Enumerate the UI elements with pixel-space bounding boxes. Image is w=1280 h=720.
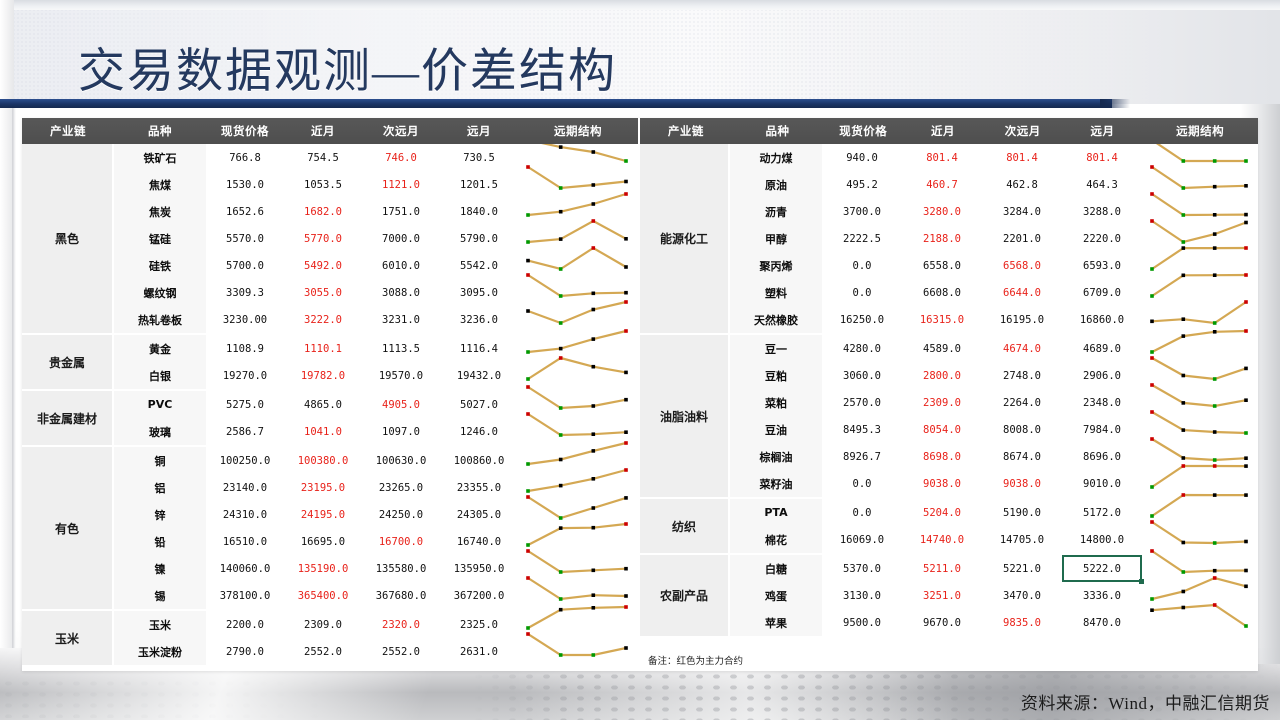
variety-name[interactable]: 天然橡胶 <box>730 306 822 333</box>
header-far-month-2: 远月 <box>1063 118 1143 144</box>
second-far-month-cell[interactable]: 16700.0 <box>362 528 440 555</box>
table-row[interactable]: 甲醇2222.52188.02201.02220.0 <box>730 225 1258 252</box>
variety-name[interactable]: 甲醇 <box>730 225 822 252</box>
slide-canvas: 交易数据观测—价差结构 产业链 品种 现货价格 近月 次远月 远月 远期结构 黑… <box>0 0 1280 720</box>
variety-name[interactable]: 锰硅 <box>114 225 206 252</box>
second-far-month-cell[interactable]: 5190.0 <box>982 499 1062 526</box>
forward-structure-sparkline-cell <box>1142 555 1258 582</box>
table-row[interactable]: 白糖5370.05211.05221.05222.0 <box>730 555 1258 582</box>
near-month-cell[interactable]: 2188.0 <box>902 225 982 252</box>
spot-price-cell[interactable]: 9500.0 <box>822 609 902 636</box>
variety-name[interactable]: 铅 <box>114 528 206 555</box>
far-month-cell[interactable]: 5027.0 <box>440 391 518 418</box>
variety-name[interactable]: 焦煤 <box>114 171 206 198</box>
forward-structure-sparkline-cell <box>518 225 638 252</box>
header-forward-structure-2: 远期结构 <box>1142 118 1258 144</box>
right-price-table: 产业链 品种 现货价格 近月 次远月 远月 远期结构 能源化工动力煤940.08… <box>638 118 1258 671</box>
near-month-cell[interactable]: 5204.0 <box>902 499 982 526</box>
table-row[interactable]: 菜粕2570.02309.02264.02348.0 <box>730 389 1258 416</box>
near-month-cell[interactable]: 4865.0 <box>284 391 362 418</box>
second-far-month-cell[interactable]: 6644.0 <box>982 279 1062 306</box>
near-month-cell[interactable]: 19782.0 <box>284 362 362 389</box>
variety-name[interactable]: 苹果 <box>730 609 822 636</box>
variety-name[interactable]: 白糖 <box>730 555 822 582</box>
second-far-month-cell[interactable]: 100630.0 <box>362 447 440 474</box>
far-month-cell[interactable]: 2220.0 <box>1062 225 1142 252</box>
table-row[interactable]: 豆一4280.04589.04674.04689.0 <box>730 335 1258 362</box>
forward-structure-sparkline-cell <box>518 252 638 279</box>
forward-structure-sparkline-cell <box>1142 225 1258 252</box>
far-month-cell[interactable]: 2906.0 <box>1062 362 1142 389</box>
far-month-cell[interactable]: 2631.0 <box>440 638 518 665</box>
header-variety-2: 品种 <box>732 118 824 144</box>
near-month-cell[interactable]: 8054.0 <box>902 416 982 443</box>
spot-price-cell[interactable]: 1530.0 <box>206 171 284 198</box>
right-table-body: 能源化工动力煤940.0801.4801.4801.4原油495.2460.74… <box>640 144 1258 636</box>
near-month-cell[interactable]: 5770.0 <box>284 225 362 252</box>
far-month-cell[interactable]: 464.3 <box>1062 171 1142 198</box>
second-far-month-cell[interactable]: 1121.0 <box>362 171 440 198</box>
table-footnote: 备注：红色为主力合约 <box>648 653 743 667</box>
second-far-month-cell[interactable]: 8008.0 <box>982 416 1062 443</box>
industry-chain-group: 能源化工动力煤940.0801.4801.4801.4原油495.2460.74… <box>640 144 1258 335</box>
near-month-cell[interactable]: 3280.0 <box>902 198 982 225</box>
near-month-cell[interactable]: 5211.0 <box>902 555 982 582</box>
near-month-cell[interactable]: 801.4 <box>902 144 982 171</box>
second-far-month-cell[interactable]: 1097.0 <box>362 418 440 445</box>
variety-name[interactable]: 锡 <box>114 582 206 609</box>
second-far-month-cell[interactable]: 3231.0 <box>362 306 440 333</box>
second-far-month-cell[interactable]: 7000.0 <box>362 225 440 252</box>
title-underline-bar <box>0 99 1112 108</box>
table-row[interactable]: 热轧卷板3230.003222.03231.03236.0 <box>114 306 638 333</box>
forward-structure-sparkline-cell <box>1142 335 1258 362</box>
industry-chain-label: 黑色 <box>22 144 114 333</box>
forward-structure-sparkline-cell <box>518 171 638 198</box>
near-month-cell[interactable]: 24195.0 <box>284 501 362 528</box>
variety-name[interactable]: PTA <box>730 499 822 526</box>
spot-price-cell[interactable]: 8495.3 <box>822 416 902 443</box>
forward-structure-sparkline-cell <box>518 418 638 445</box>
left-table-header-row: 产业链 品种 现货价格 近月 次远月 远月 远期结构 <box>22 118 638 144</box>
second-far-month-cell[interactable]: 801.4 <box>982 144 1062 171</box>
table-row[interactable]: 天然橡胶16250.016315.016195.016860.0 <box>730 306 1258 333</box>
forward-structure-sparkline-cell <box>1142 171 1258 198</box>
spot-price-cell[interactable]: 3230.00 <box>206 306 284 333</box>
spot-price-cell[interactable]: 2200.0 <box>206 611 284 638</box>
spot-price-cell[interactable]: 4280.0 <box>822 335 902 362</box>
far-month-cell[interactable]: 7984.0 <box>1062 416 1142 443</box>
far-month-cell[interactable]: 1246.0 <box>440 418 518 445</box>
near-month-cell[interactable]: 754.5 <box>284 144 362 171</box>
second-far-month-cell[interactable]: 3088.0 <box>362 279 440 306</box>
forward-structure-sparkline-cell <box>1142 362 1258 389</box>
forward-structure-sparkline-cell <box>518 447 638 474</box>
near-month-cell[interactable]: 2552.0 <box>284 638 362 665</box>
near-month-cell[interactable]: 365400.0 <box>284 582 362 609</box>
forward-structure-sparkline-cell <box>518 335 638 362</box>
near-month-cell[interactable]: 16315.0 <box>902 306 982 333</box>
far-month-cell[interactable]: 730.5 <box>440 144 518 171</box>
forward-structure-sparkline-cell <box>518 391 638 418</box>
near-month-cell[interactable]: 16695.0 <box>284 528 362 555</box>
second-far-month-cell[interactable]: 2748.0 <box>982 362 1062 389</box>
near-month-cell[interactable]: 100380.0 <box>284 447 362 474</box>
table-row[interactable]: 玻璃2586.71041.01097.01246.0 <box>114 418 638 445</box>
second-far-month-cell[interactable]: 16195.0 <box>982 306 1062 333</box>
near-month-cell[interactable]: 2800.0 <box>902 362 982 389</box>
near-month-cell[interactable]: 1053.5 <box>284 171 362 198</box>
header-forward-structure: 远期结构 <box>518 118 638 144</box>
second-far-month-cell[interactable]: 23265.0 <box>362 474 440 501</box>
spot-price-cell[interactable]: 5700.0 <box>206 252 284 279</box>
near-month-cell[interactable]: 1110.1 <box>284 335 362 362</box>
table-row[interactable]: 铁矿石766.8754.5746.0730.5 <box>114 144 638 171</box>
table-row[interactable]: 焦炭1652.61682.01751.01840.0 <box>114 198 638 225</box>
table-row[interactable]: 豆油8495.38054.08008.07984.0 <box>730 416 1258 443</box>
second-far-month-cell[interactable]: 2264.0 <box>982 389 1062 416</box>
forward-structure-sparkline-cell <box>1142 279 1258 306</box>
table-row[interactable]: 动力煤940.0801.4801.4801.4 <box>730 144 1258 171</box>
industry-chain-label: 农副产品 <box>640 555 730 636</box>
far-month-cell[interactable]: 19432.0 <box>440 362 518 389</box>
spot-price-cell[interactable]: 19270.0 <box>206 362 284 389</box>
second-far-month-cell[interactable]: 8674.0 <box>982 443 1062 470</box>
table-row[interactable]: 铅16510.016695.016700.016740.0 <box>114 528 638 555</box>
variety-name[interactable]: 动力煤 <box>730 144 822 171</box>
industry-chain-group: 黑色铁矿石766.8754.5746.0730.5焦煤1530.01053.51… <box>22 144 638 335</box>
second-far-month-cell[interactable]: 24250.0 <box>362 501 440 528</box>
variety-name[interactable]: 锌 <box>114 501 206 528</box>
spot-price-cell[interactable]: 16510.0 <box>206 528 284 555</box>
near-month-cell[interactable]: 5492.0 <box>284 252 362 279</box>
spot-price-cell[interactable]: 940.0 <box>822 144 902 171</box>
far-month-cell[interactable]: 4689.0 <box>1062 335 1142 362</box>
far-month-cell[interactable]: 6709.0 <box>1062 279 1142 306</box>
source-attribution: 资料来源：Wind，中融汇信期货 <box>1021 689 1270 714</box>
spot-price-cell[interactable]: 2790.0 <box>206 638 284 665</box>
forward-structure-sparkline-cell <box>518 638 638 665</box>
near-month-cell[interactable]: 14740.0 <box>902 526 982 553</box>
second-far-month-cell[interactable]: 9038.0 <box>982 470 1062 497</box>
forward-structure-sparkline-cell <box>518 582 638 609</box>
table-row[interactable]: 硅铁5700.05492.06010.05542.0 <box>114 252 638 279</box>
table-row[interactable]: 沥青3700.03280.03284.03288.0 <box>730 198 1258 225</box>
forward-structure-sparkline-cell <box>518 279 638 306</box>
second-far-month-cell[interactable]: 1751.0 <box>362 198 440 225</box>
variety-name[interactable]: 豆粕 <box>730 362 822 389</box>
spot-price-cell[interactable]: 2586.7 <box>206 418 284 445</box>
forward-structure-sparkline-cell <box>518 501 638 528</box>
variety-name[interactable]: 豆一 <box>730 335 822 362</box>
variety-name[interactable]: 菜粕 <box>730 389 822 416</box>
spot-price-cell[interactable]: 8926.7 <box>822 443 902 470</box>
table-row[interactable]: 苹果9500.09670.09835.08470.0 <box>730 609 1258 636</box>
table-row[interactable]: 镍140060.0135190.0135580.0135950.0 <box>114 555 638 582</box>
header-variety: 品种 <box>114 118 206 144</box>
industry-chain-label: 非金属建材 <box>22 391 114 445</box>
far-month-cell[interactable]: 3236.0 <box>440 306 518 333</box>
spot-price-cell[interactable]: 140060.0 <box>206 555 284 582</box>
table-row[interactable]: 棉花16069.014740.014705.014800.0 <box>730 526 1258 553</box>
second-far-month-cell[interactable]: 4905.0 <box>362 391 440 418</box>
variety-name[interactable]: 棕榈油 <box>730 443 822 470</box>
spot-price-cell[interactable]: 16069.0 <box>822 526 902 553</box>
far-month-cell[interactable]: 3336.0 <box>1062 582 1142 609</box>
variety-name[interactable]: 铜 <box>114 447 206 474</box>
forward-structure-sparkline-cell <box>1142 416 1258 443</box>
second-far-month-cell[interactable]: 6010.0 <box>362 252 440 279</box>
near-month-cell[interactable]: 1041.0 <box>284 418 362 445</box>
far-month-cell[interactable]: 16740.0 <box>440 528 518 555</box>
far-month-cell[interactable]: 3095.0 <box>440 279 518 306</box>
table-row[interactable]: 白银19270.019782.019570.019432.0 <box>114 362 638 389</box>
near-month-cell[interactable]: 9670.0 <box>902 609 982 636</box>
spot-price-cell[interactable]: 23140.0 <box>206 474 284 501</box>
industry-chain-label: 纺织 <box>640 499 730 553</box>
far-month-cell[interactable]: 2325.0 <box>440 611 518 638</box>
spot-price-cell[interactable]: 3060.0 <box>822 362 902 389</box>
spot-price-cell[interactable]: 5570.0 <box>206 225 284 252</box>
table-row[interactable]: 锰硅5570.05770.07000.05790.0 <box>114 225 638 252</box>
far-month-cell[interactable]: 801.4 <box>1062 144 1142 171</box>
right-table-header-row: 产业链 品种 现货价格 近月 次远月 远月 远期结构 <box>640 118 1258 144</box>
industry-chain-group: 纺织PTA0.05204.05190.05172.0棉花16069.014740… <box>640 499 1258 555</box>
forward-structure-sparkline-cell <box>1142 252 1258 279</box>
far-month-cell[interactable]: 5172.0 <box>1062 499 1142 526</box>
far-month-cell[interactable]: 8696.0 <box>1062 443 1142 470</box>
forward-structure-sparkline-cell <box>518 306 638 333</box>
left-table-body: 黑色铁矿石766.8754.5746.0730.5焦煤1530.01053.51… <box>22 144 638 665</box>
far-month-cell[interactable]: 23355.0 <box>440 474 518 501</box>
variety-name[interactable]: 豆油 <box>730 416 822 443</box>
variety-name[interactable]: 热轧卷板 <box>114 306 206 333</box>
second-far-month-cell[interactable]: 746.0 <box>362 144 440 171</box>
table-row[interactable]: 铝23140.023195.023265.023355.0 <box>114 474 638 501</box>
variety-name[interactable]: 焦炭 <box>114 198 206 225</box>
variety-name[interactable]: 玉米淀粉 <box>114 638 206 665</box>
variety-name[interactable]: PVC <box>114 391 206 418</box>
forward-structure-sparkline-cell <box>1142 198 1258 225</box>
header-industry-chain-2: 产业链 <box>640 118 732 144</box>
second-far-month-cell[interactable]: 9835.0 <box>982 609 1062 636</box>
far-month-cell[interactable]: 6593.0 <box>1062 252 1142 279</box>
far-month-cell[interactable]: 16860.0 <box>1062 306 1142 333</box>
far-month-cell[interactable]: 367200.0 <box>440 582 518 609</box>
near-month-cell[interactable]: 135190.0 <box>284 555 362 582</box>
spot-price-cell[interactable]: 5370.0 <box>822 555 902 582</box>
forward-structure-sparkline-cell <box>518 144 638 171</box>
industry-chain-label: 能源化工 <box>640 144 730 333</box>
variety-name[interactable]: 铁矿石 <box>114 144 206 171</box>
header-spot-price: 现货价格 <box>206 118 284 144</box>
chain-row-container: PTA0.05204.05190.05172.0棉花16069.014740.0… <box>730 499 1258 553</box>
second-far-month-cell[interactable]: 14705.0 <box>982 526 1062 553</box>
near-month-cell[interactable]: 6608.0 <box>902 279 982 306</box>
variety-name[interactable]: 玉米 <box>114 611 206 638</box>
table-row[interactable]: 锡378100.0365400.0367680.0367200.0 <box>114 582 638 609</box>
variety-name[interactable]: 玻璃 <box>114 418 206 445</box>
far-month-cell[interactable]: 135950.0 <box>440 555 518 582</box>
variety-name[interactable]: 硅铁 <box>114 252 206 279</box>
far-month-cell[interactable]: 3288.0 <box>1062 198 1142 225</box>
table-row[interactable]: 豆粕3060.02800.02748.02906.0 <box>730 362 1258 389</box>
header-far-month: 远月 <box>440 118 518 144</box>
second-far-month-cell[interactable]: 1113.5 <box>362 335 440 362</box>
near-month-cell[interactable]: 3251.0 <box>902 582 982 609</box>
near-month-cell[interactable]: 4589.0 <box>902 335 982 362</box>
near-month-cell[interactable]: 23195.0 <box>284 474 362 501</box>
far-month-cell[interactable]: 100860.0 <box>440 447 518 474</box>
near-month-cell[interactable]: 460.7 <box>902 171 982 198</box>
second-far-month-cell[interactable]: 462.8 <box>982 171 1062 198</box>
far-month-cell[interactable]: 2348.0 <box>1062 389 1142 416</box>
far-month-cell[interactable]: 8470.0 <box>1062 609 1142 636</box>
far-month-cell[interactable]: 14800.0 <box>1062 526 1142 553</box>
second-far-month-cell[interactable]: 2201.0 <box>982 225 1062 252</box>
header-industry-chain: 产业链 <box>22 118 114 144</box>
variety-name[interactable]: 铝 <box>114 474 206 501</box>
second-far-month-cell[interactable]: 3284.0 <box>982 198 1062 225</box>
table-row[interactable]: 焦煤1530.01053.51121.01201.5 <box>114 171 638 198</box>
spot-price-cell[interactable]: 0.0 <box>822 499 902 526</box>
forward-structure-sparkline-cell <box>1142 499 1258 526</box>
industry-chain-group: 油脂油料豆一4280.04589.04674.04689.0豆粕3060.028… <box>640 335 1258 499</box>
spot-price-cell[interactable]: 24310.0 <box>206 501 284 528</box>
spot-price-cell[interactable]: 1652.6 <box>206 198 284 225</box>
spot-price-cell[interactable]: 3309.3 <box>206 279 284 306</box>
table-row[interactable]: 聚丙烯0.06558.06568.06593.0 <box>730 252 1258 279</box>
near-month-cell[interactable]: 2309.0 <box>284 611 362 638</box>
far-month-cell[interactable]: 5222.0 <box>1062 555 1142 582</box>
chain-row-container: 铜100250.0100380.0100630.0100860.0铝23140.… <box>114 447 638 609</box>
industry-chain-label: 玉米 <box>22 611 114 665</box>
forward-structure-sparkline-cell <box>518 611 638 638</box>
spot-price-cell[interactable]: 3700.0 <box>822 198 902 225</box>
header-second-far-month-2: 次远月 <box>983 118 1063 144</box>
second-far-month-cell[interactable]: 19570.0 <box>362 362 440 389</box>
far-month-cell[interactable]: 24305.0 <box>440 501 518 528</box>
spot-price-cell[interactable]: 3130.0 <box>822 582 902 609</box>
spot-price-cell[interactable]: 2222.5 <box>822 225 902 252</box>
spot-price-cell[interactable]: 0.0 <box>822 279 902 306</box>
left-price-table: 产业链 品种 现货价格 近月 次远月 远月 远期结构 黑色铁矿石766.8754… <box>22 118 638 671</box>
chain-row-container: 豆一4280.04589.04674.04689.0豆粕3060.02800.0… <box>730 335 1258 497</box>
spot-price-cell[interactable]: 16250.0 <box>822 306 902 333</box>
variety-name[interactable]: 沥青 <box>730 198 822 225</box>
far-month-cell[interactable]: 1201.5 <box>440 171 518 198</box>
spot-price-cell[interactable]: 0.0 <box>822 252 902 279</box>
near-month-cell[interactable]: 6558.0 <box>902 252 982 279</box>
industry-chain-group: 玉米玉米2200.02309.02320.02325.0玉米淀粉2790.025… <box>22 611 638 665</box>
forward-structure-sparkline-cell <box>1142 526 1258 553</box>
far-month-cell[interactable]: 1116.4 <box>440 335 518 362</box>
table-row[interactable]: 玉米淀粉2790.02552.02552.02631.0 <box>114 638 638 665</box>
spot-price-cell[interactable]: 378100.0 <box>206 582 284 609</box>
industry-chain-label: 油脂油料 <box>640 335 730 497</box>
background-honeycomb-left <box>0 678 420 718</box>
title-underline-fade <box>1100 99 1130 108</box>
near-month-cell[interactable]: 1682.0 <box>284 198 362 225</box>
chain-row-container: 白糖5370.05211.05221.05222.0鸡蛋3130.03251.0… <box>730 555 1258 636</box>
variety-name[interactable]: 鸡蛋 <box>730 582 822 609</box>
second-far-month-cell[interactable]: 3470.0 <box>982 582 1062 609</box>
table-row[interactable]: 棕榈油8926.78698.08674.08696.0 <box>730 443 1258 470</box>
spot-price-cell[interactable]: 495.2 <box>822 171 902 198</box>
table-row[interactable]: 黄金1108.91110.11113.51116.4 <box>114 335 638 362</box>
far-month-cell[interactable]: 9010.0 <box>1062 470 1142 497</box>
table-row[interactable]: 锌24310.024195.024250.024305.0 <box>114 501 638 528</box>
industry-chain-group: 农副产品白糖5370.05211.05221.05222.0鸡蛋3130.032… <box>640 555 1258 636</box>
industry-chain-group: 非金属建材PVC5275.04865.04905.05027.0玻璃2586.7… <box>22 391 638 447</box>
spot-price-cell[interactable]: 0.0 <box>822 470 902 497</box>
industry-chain-group: 贵金属黄金1108.91110.11113.51116.4白银19270.019… <box>22 335 638 391</box>
table-row[interactable]: 塑料0.06608.06644.06709.0 <box>730 279 1258 306</box>
spot-price-cell[interactable]: 2570.0 <box>822 389 902 416</box>
variety-name[interactable]: 黄金 <box>114 335 206 362</box>
forward-structure-sparkline-cell <box>1142 443 1258 470</box>
variety-name[interactable]: 螺纹钢 <box>114 279 206 306</box>
near-month-cell[interactable]: 8698.0 <box>902 443 982 470</box>
forward-structure-sparkline-cell <box>518 528 638 555</box>
second-far-month-cell[interactable]: 135580.0 <box>362 555 440 582</box>
price-spread-tables: 产业链 品种 现货价格 近月 次远月 远月 远期结构 黑色铁矿石766.8754… <box>22 118 1258 671</box>
variety-name[interactable]: 棉花 <box>730 526 822 553</box>
table-row[interactable]: PTA0.05204.05190.05172.0 <box>730 499 1258 526</box>
table-row[interactable]: 原油495.2460.7462.8464.3 <box>730 171 1258 198</box>
near-month-cell[interactable]: 2309.0 <box>902 389 982 416</box>
second-far-month-cell[interactable]: 6568.0 <box>982 252 1062 279</box>
spot-price-cell[interactable]: 5275.0 <box>206 391 284 418</box>
variety-name[interactable]: 镍 <box>114 555 206 582</box>
forward-structure-sparkline-cell <box>518 555 638 582</box>
table-row[interactable]: 菜籽油0.09038.09038.09010.0 <box>730 470 1258 497</box>
spot-price-cell[interactable]: 766.8 <box>206 144 284 171</box>
background-top-edge <box>0 0 1280 10</box>
spot-price-cell[interactable]: 1108.9 <box>206 335 284 362</box>
forward-structure-sparkline-cell <box>1142 306 1258 333</box>
table-row[interactable]: 鸡蛋3130.03251.03470.03336.0 <box>730 582 1258 609</box>
far-month-cell[interactable]: 5542.0 <box>440 252 518 279</box>
near-month-cell[interactable]: 9038.0 <box>902 470 982 497</box>
industry-chain-group: 有色铜100250.0100380.0100630.0100860.0铝2314… <box>22 447 638 611</box>
second-far-month-cell[interactable]: 4674.0 <box>982 335 1062 362</box>
second-far-month-cell[interactable]: 2320.0 <box>362 611 440 638</box>
near-month-cell[interactable]: 3055.0 <box>284 279 362 306</box>
variety-name[interactable]: 菜籽油 <box>730 470 822 497</box>
table-row[interactable]: 螺纹钢3309.33055.03088.03095.0 <box>114 279 638 306</box>
table-row[interactable]: 玉米2200.02309.02320.02325.0 <box>114 611 638 638</box>
spot-price-cell[interactable]: 100250.0 <box>206 447 284 474</box>
table-row[interactable]: 铜100250.0100380.0100630.0100860.0 <box>114 447 638 474</box>
second-far-month-cell[interactable]: 367680.0 <box>362 582 440 609</box>
forward-structure-sparkline-cell <box>1142 389 1258 416</box>
forward-structure-sparkline-cell <box>1142 144 1258 171</box>
chain-row-container: PVC5275.04865.04905.05027.0玻璃2586.71041.… <box>114 391 638 445</box>
far-month-cell[interactable]: 5790.0 <box>440 225 518 252</box>
second-far-month-cell[interactable]: 5221.0 <box>982 555 1062 582</box>
near-month-cell[interactable]: 3222.0 <box>284 306 362 333</box>
header-spot-price-2: 现货价格 <box>823 118 903 144</box>
header-second-far-month: 次远月 <box>362 118 440 144</box>
table-row[interactable]: PVC5275.04865.04905.05027.0 <box>114 391 638 418</box>
second-far-month-cell[interactable]: 2552.0 <box>362 638 440 665</box>
far-month-cell[interactable]: 1840.0 <box>440 198 518 225</box>
variety-name[interactable]: 塑料 <box>730 279 822 306</box>
variety-name[interactable]: 白银 <box>114 362 206 389</box>
variety-name[interactable]: 原油 <box>730 171 822 198</box>
variety-name[interactable]: 聚丙烯 <box>730 252 822 279</box>
